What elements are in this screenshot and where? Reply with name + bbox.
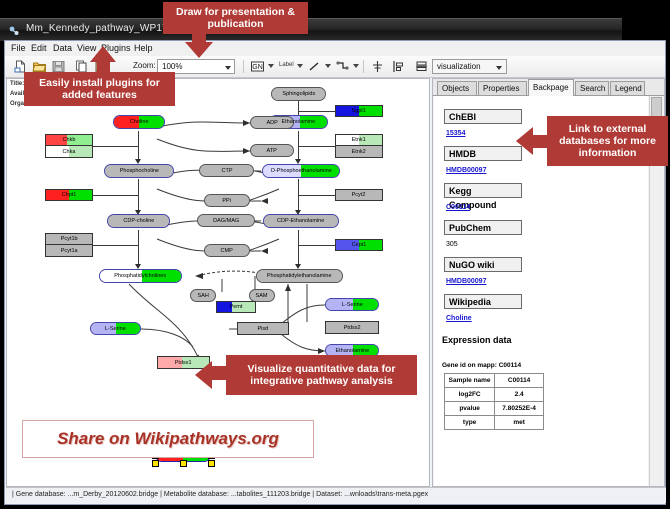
node-label: SAH xyxy=(197,293,208,299)
menu-file[interactable]: File xyxy=(11,43,26,53)
node-label: Ethanolamine xyxy=(282,119,316,125)
selection-handle-se[interactable] xyxy=(208,460,215,467)
node-ctp[interactable]: CTP xyxy=(199,164,254,177)
node-label: CDP-choline xyxy=(123,218,154,224)
connector-tool-icon[interactable] xyxy=(335,59,350,74)
node-sah[interactable]: SAH xyxy=(190,289,216,302)
node-l-serine-right[interactable]: L-Serine xyxy=(325,298,379,311)
line-tool-icon[interactable] xyxy=(307,59,322,74)
callout-arrow-external xyxy=(516,127,533,155)
cell-label: type xyxy=(445,416,495,430)
gene-pemt[interactable]: Pemt xyxy=(216,301,256,313)
expression-data-header: Expression data xyxy=(442,335,512,345)
label-tool-chevron-icon[interactable] xyxy=(297,64,303,68)
node-label: Phosphatidylcholines xyxy=(115,273,167,279)
section-header-nugo: NuGO wiki xyxy=(444,257,522,272)
zoom-label: Zoom: xyxy=(133,61,156,70)
gene-chkb[interactable]: Chkb xyxy=(45,134,93,146)
node-label: SAM xyxy=(256,293,268,299)
cell-label: log2FC xyxy=(445,388,495,402)
node-label: L-Serine xyxy=(342,302,363,308)
node-dag-mag[interactable]: DAG/MAG xyxy=(197,214,255,227)
section-header-pubchem: PubChem xyxy=(444,220,522,235)
selection-handle-sw[interactable] xyxy=(152,460,159,467)
label-tool-label[interactable]: Label xyxy=(279,62,294,68)
tab-search[interactable]: Search xyxy=(575,81,609,95)
node-cmp[interactable]: CMP xyxy=(204,244,250,257)
node-label: Pcyt1a xyxy=(61,248,78,254)
tab-legend[interactable]: Legend xyxy=(610,81,645,95)
node-label: O-Phosphoethanolamine xyxy=(270,168,331,174)
align-center-icon[interactable] xyxy=(370,59,385,74)
gene-product-tool-icon[interactable]: GN xyxy=(250,59,265,74)
node-cdp-choline[interactable]: CDP-choline xyxy=(107,214,170,228)
node-label: Pemt xyxy=(230,304,243,310)
zoom-value: 100% xyxy=(162,62,182,71)
node-label: Choline xyxy=(130,119,149,125)
cell-value: C00114 xyxy=(495,374,544,388)
node-atp[interactable]: ATP xyxy=(250,144,294,157)
window-titlebar: Mm_Kennedy_pathway_WP1771_45176.gpml xyxy=(0,18,622,41)
callout-external-links: Link to external databases for more info… xyxy=(547,116,668,166)
link-hmdb[interactable]: HMDB00097 xyxy=(446,167,486,174)
cell-value: met xyxy=(495,416,544,430)
menu-help[interactable]: Help xyxy=(134,43,153,53)
tab-objects[interactable]: Objects xyxy=(437,81,477,95)
node-label: Pisd xyxy=(258,326,269,332)
section-header-chebi: ChEBI xyxy=(444,109,522,124)
node-phosphatidylethanolamine[interactable]: Phosphatidylethanolamine xyxy=(256,269,343,283)
visualization-combobox[interactable]: visualization xyxy=(432,59,507,74)
node-label: ADP xyxy=(266,120,277,126)
callout-quantitative-data: Visualize quantitative data for integrat… xyxy=(226,355,417,395)
node-label: Phosphocholine xyxy=(119,168,158,174)
node-label: Etnk1 xyxy=(352,137,366,143)
node-label: Sphingolipids xyxy=(282,91,315,97)
gene-chka[interactable]: Chka xyxy=(45,146,93,158)
table-row: pvalue 7.80252E-4 xyxy=(445,402,544,416)
node-label: Sgpl1 xyxy=(352,108,366,114)
link-kegg[interactable]: C00114 xyxy=(446,204,470,211)
gene-chpt1[interactable]: Chpt1 xyxy=(45,189,93,201)
link-wikipedia[interactable]: Choline xyxy=(446,315,472,322)
visualization-value: visualization xyxy=(437,62,481,71)
cell-value: 7.80252E-4 xyxy=(495,402,544,416)
tab-properties[interactable]: Properties xyxy=(478,81,527,95)
node-label: CMP xyxy=(221,248,233,254)
node-label: CDP-Ethanolamine xyxy=(277,218,324,224)
cell-value: 2.4 xyxy=(495,388,544,402)
node-label: DAG/MAG xyxy=(213,218,239,224)
link-chebi[interactable]: 15354 xyxy=(446,130,465,137)
status-bar: | Gene database: ...m_Derby_20120602.bri… xyxy=(6,487,666,503)
selection-handle-s[interactable] xyxy=(180,460,187,467)
chevron-down-icon xyxy=(225,66,231,70)
node-label: Chka xyxy=(63,149,76,155)
gene-etnk2[interactable]: Etnk2 xyxy=(335,146,383,158)
gene-etnk1[interactable]: Etnk1 xyxy=(335,134,383,146)
node-phosphatidylcholines[interactable]: Phosphatidylcholines xyxy=(99,269,182,283)
gene-cept1[interactable]: Cept1 xyxy=(335,239,383,251)
callout-arrow-top xyxy=(185,42,213,58)
node-l-serine-left[interactable]: L-Serine xyxy=(90,322,141,335)
menu-data[interactable]: Data xyxy=(53,43,72,53)
table-row: type met xyxy=(445,416,544,430)
node-o-phosphoethanolamine[interactable]: O-Phosphoethanolamine xyxy=(262,164,340,178)
table-row: log2FC 2.4 xyxy=(445,388,544,402)
node-label: ATP xyxy=(267,148,277,154)
toolbar-separator-2 xyxy=(363,60,364,73)
node-label: Pcyt1b xyxy=(61,236,78,242)
status-text: | Gene database: ...m_Derby_20120602.bri… xyxy=(12,491,428,498)
node-label: Chkb xyxy=(63,137,76,143)
callout-install-plugins: Easily install plugins for added feature… xyxy=(24,72,175,106)
node-label: Pcyt2 xyxy=(352,192,366,198)
node-label: Ethanolamine xyxy=(335,348,369,354)
align-left-icon[interactable] xyxy=(391,59,406,74)
node-label: Etnk2 xyxy=(352,149,366,155)
gene-pisd[interactable]: Pisd xyxy=(237,322,289,335)
svg-text:GN: GN xyxy=(252,64,263,71)
node-ppi[interactable]: PPi xyxy=(204,194,250,207)
cell-label: Sample name xyxy=(445,374,495,388)
screenshot-root: Mm_Kennedy_pathway_WP1771_45176.gpml Fil… xyxy=(0,0,670,509)
value-pubchem: 305 xyxy=(446,241,458,248)
node-label: Cept1 xyxy=(352,242,367,248)
node-label: CTP xyxy=(221,168,232,174)
node-cdp-ethanolamine[interactable]: CDP-Ethanolamine xyxy=(263,214,339,228)
share-text: Share on Wikipathways.org xyxy=(57,429,279,449)
callout-share-wikipathways: Share on Wikipathways.org xyxy=(22,420,314,458)
app-icon xyxy=(8,24,20,36)
section-header-hmdb: HMDB xyxy=(444,146,522,161)
node-choline[interactable]: Choline xyxy=(113,115,165,129)
node-phosphocholine[interactable]: Phosphocholine xyxy=(104,164,174,178)
chevron-down-icon-2 xyxy=(496,66,502,70)
link-nugo[interactable]: HMDB00097 xyxy=(446,278,486,285)
tab-backpage[interactable]: Backpage xyxy=(528,79,574,96)
node-label: PPi xyxy=(223,198,232,204)
node-label: Chpt1 xyxy=(62,192,77,198)
menu-edit[interactable]: Edit xyxy=(31,43,47,53)
gene-tool-chevron-icon[interactable] xyxy=(268,64,274,68)
node-label: L-Serine xyxy=(105,326,126,332)
gene-id-line: Gene id on mapp: C00114 xyxy=(442,362,521,369)
callout-arrow-plugins xyxy=(90,46,116,62)
stack-vertical-icon[interactable] xyxy=(414,59,429,74)
line-tool-chevron-icon[interactable] xyxy=(325,64,331,68)
callout-arrow-quant xyxy=(195,361,212,389)
gene-ptdss2[interactable]: Ptdss2 xyxy=(325,321,379,334)
node-label: Ptdss2 xyxy=(344,325,361,331)
toolbar-separator xyxy=(243,60,244,73)
node-label: Ptdss1 xyxy=(175,360,192,366)
side-panel-tabs: Objects Properties Backpage Search Legen… xyxy=(433,79,664,96)
section-header-kegg: Kegg Compound xyxy=(444,183,522,198)
node-label: Phosphatidylethanolamine xyxy=(267,273,332,279)
connector-tool-chevron-icon[interactable] xyxy=(353,64,359,68)
expression-table: Sample name C00114 log2FC 2.4 pvalue 7.8… xyxy=(444,373,544,430)
callout-draw-for-publication: Draw for presentation & publication xyxy=(163,2,308,34)
gene-pcyt1b[interactable]: Pcyt1b xyxy=(45,233,93,245)
node-sphingolipids[interactable]: Sphingolipids xyxy=(271,87,326,101)
cell-label: pvalue xyxy=(445,402,495,416)
table-row: Sample name C00114 xyxy=(445,374,544,388)
gene-pcyt1a[interactable]: Pcyt1a xyxy=(45,245,93,257)
section-header-wikipedia: Wikipedia xyxy=(444,294,522,309)
gene-pcyt2[interactable]: Pcyt2 xyxy=(335,189,383,201)
gene-sgpl1[interactable]: Sgpl1 xyxy=(335,105,383,117)
